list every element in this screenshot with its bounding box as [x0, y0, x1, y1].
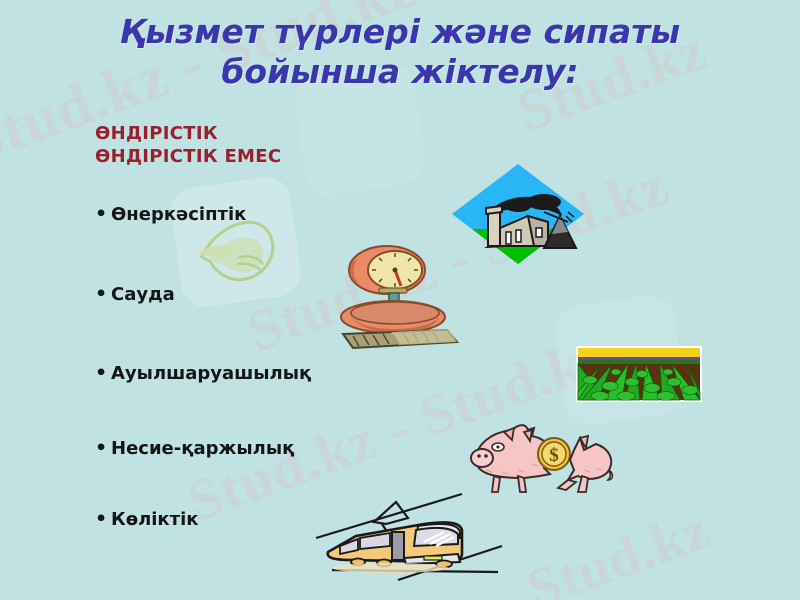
subtitle-block: ӨНДІРІСТІК ӨНДІРІСТІК ЕМЕС: [95, 122, 281, 168]
bullet-label: Ауылшаруашылық: [111, 363, 311, 384]
list-item: •Сауда: [95, 283, 175, 305]
list-item: •Несие-қаржылық: [95, 437, 294, 459]
presentation-slide: Stud.kz - Stud.kz Stud.kz - Stud.kz Stud…: [0, 0, 800, 600]
page-title: Қызмет түрлері және сипаты бойынша жікте…: [30, 12, 770, 92]
bullet-marker-icon: •: [95, 362, 111, 384]
bullet-marker-icon: •: [95, 203, 111, 225]
bullet-marker-icon: •: [95, 283, 111, 305]
subtitle-line-1: ӨНДІРІСТІК: [95, 122, 281, 145]
weighing-scale-illustration: [325, 238, 465, 350]
watermark-text: Stud.kz: [519, 497, 719, 600]
bullet-label: Сауда: [111, 284, 175, 305]
svg-text:$: $: [549, 445, 559, 466]
bullet-label: Өнеркәсіптік: [111, 204, 246, 225]
bullet-label: Несие-қаржылық: [111, 438, 294, 459]
list-item: •Көліктік: [95, 508, 198, 530]
list-item: •Ауылшаруашылық: [95, 362, 311, 384]
stud-kz-logo-watermark: [168, 174, 304, 310]
subtitle-line-2: ӨНДІРІСТІК ЕМЕС: [95, 145, 281, 168]
bullet-marker-icon: •: [95, 437, 111, 459]
tram-illustration: [312, 484, 508, 584]
list-item: •Өнеркәсіптік: [95, 203, 246, 225]
crop-field-illustration: [576, 346, 702, 402]
bullet-marker-icon: •: [95, 508, 111, 530]
factory-illustration: [448, 160, 588, 270]
bullet-label: Көліктік: [111, 509, 198, 530]
